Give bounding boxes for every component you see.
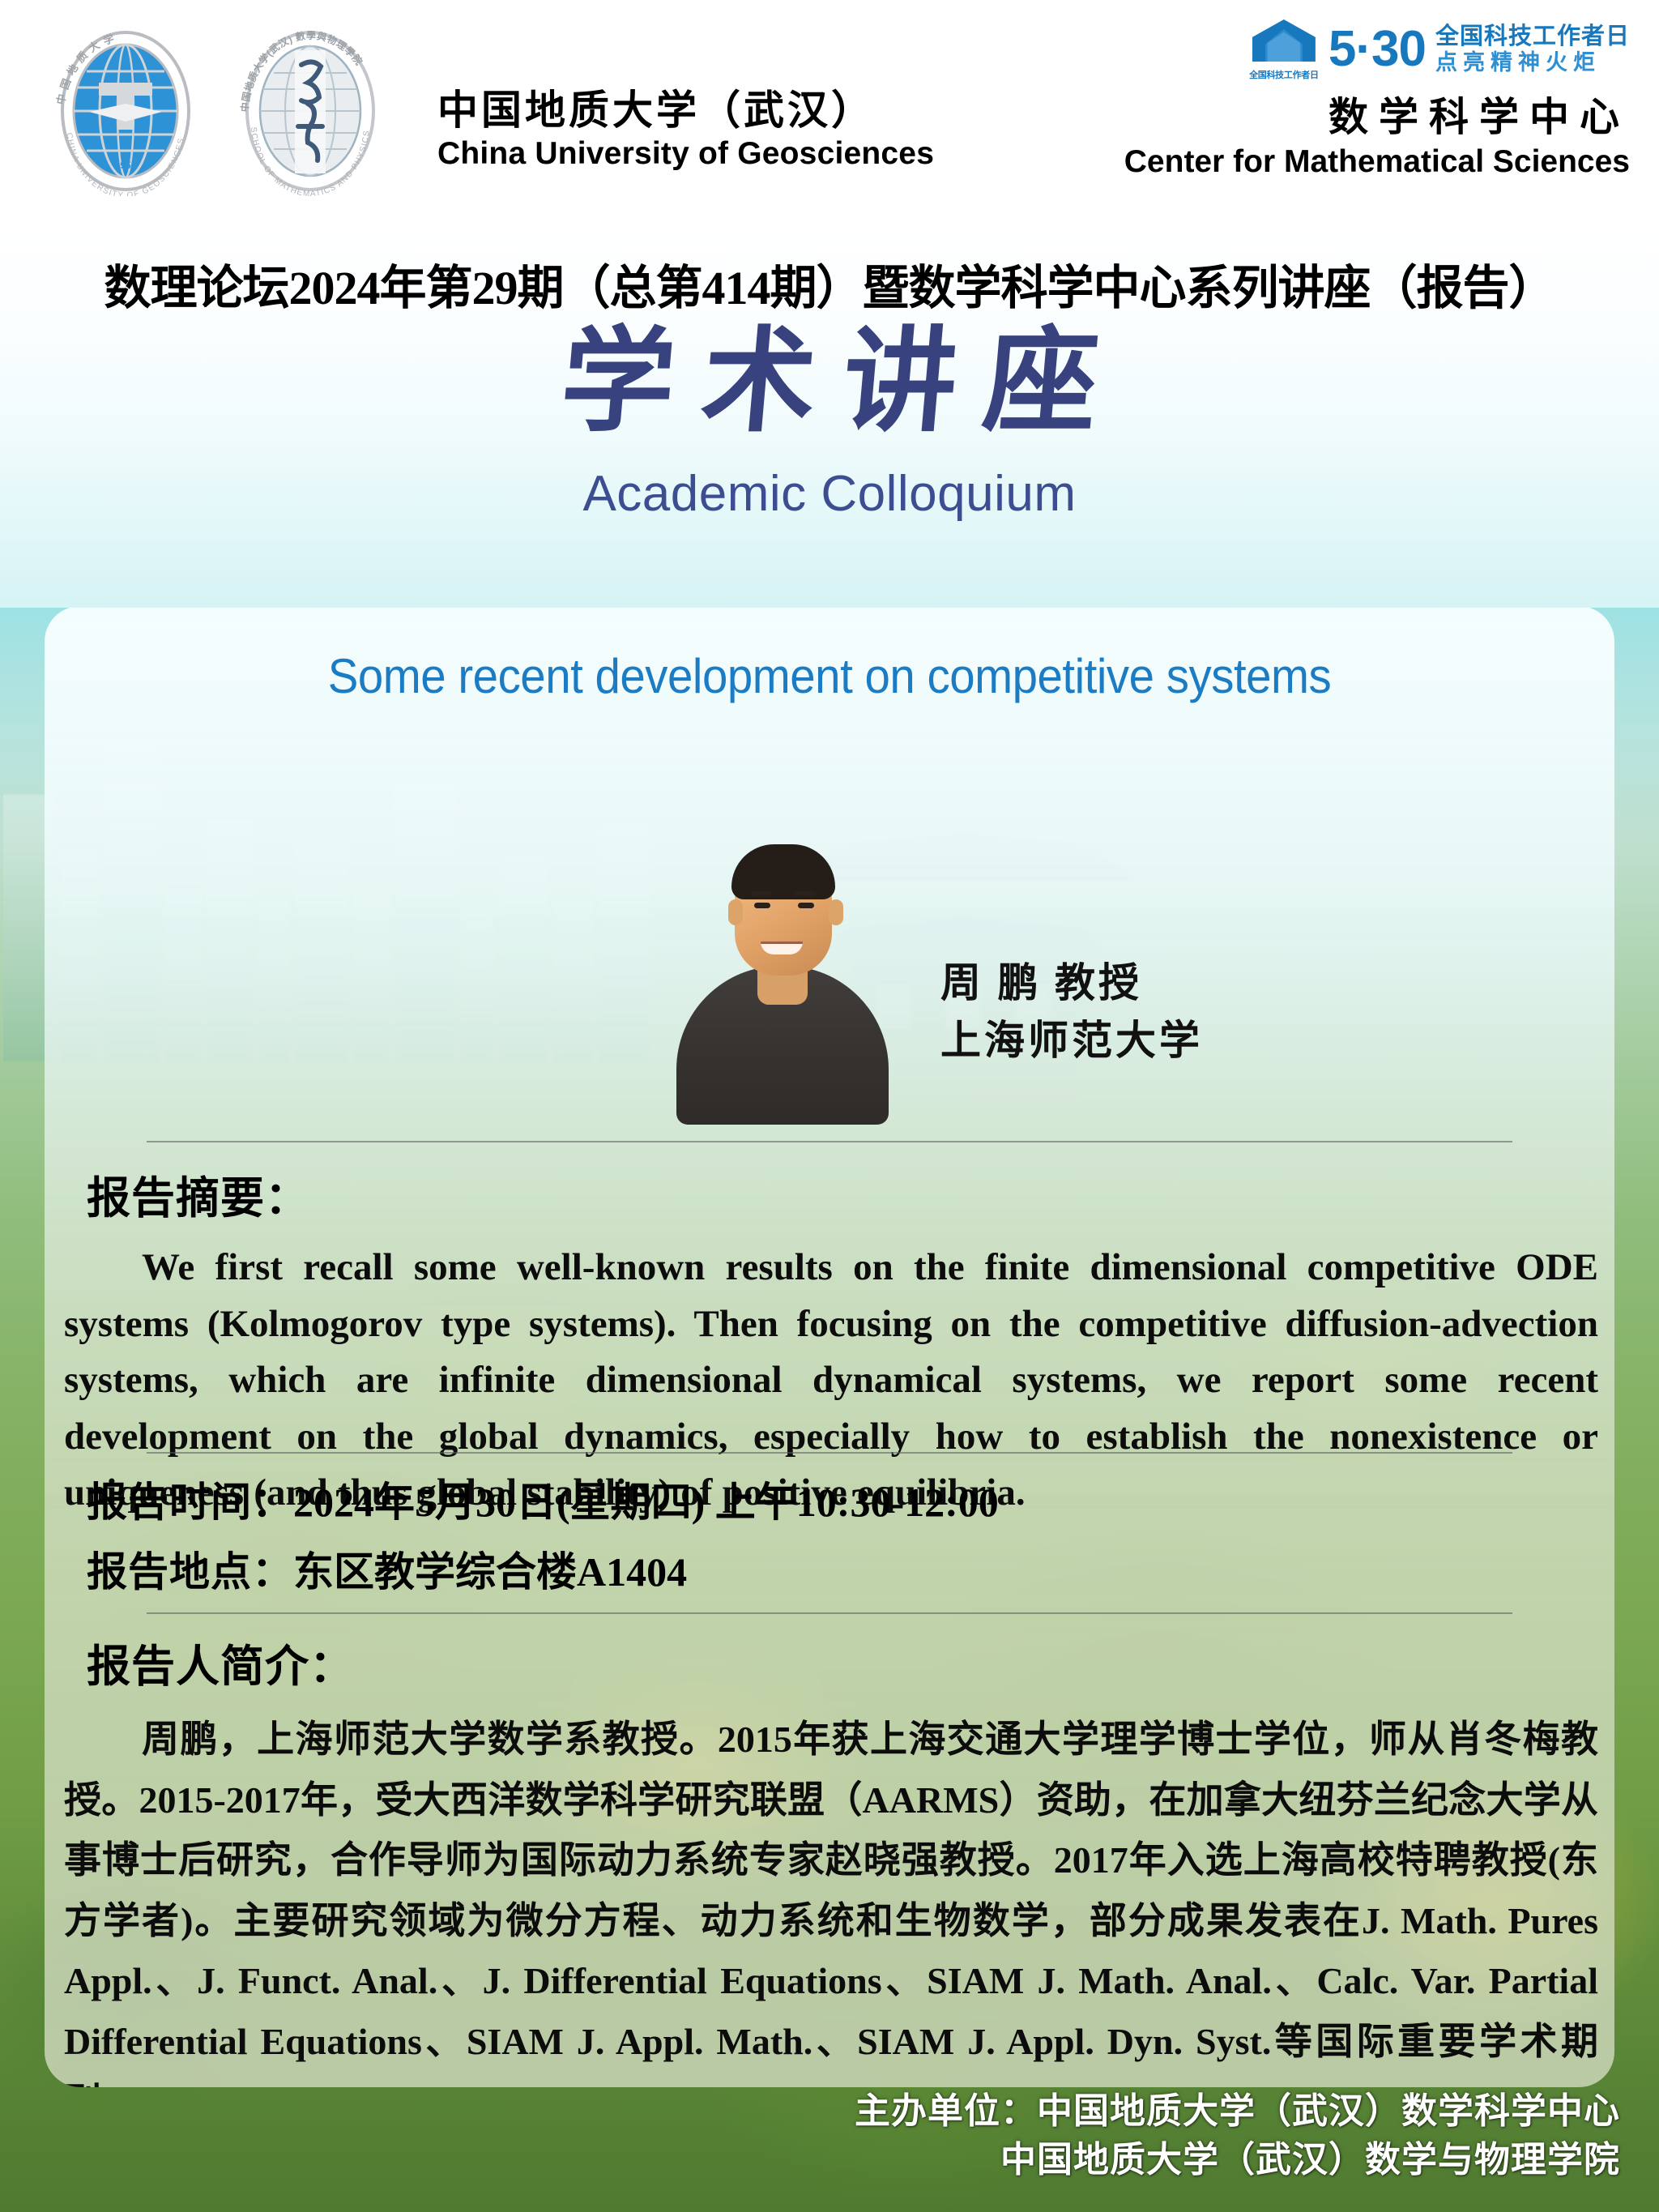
divider-above-abstract <box>147 1141 1512 1142</box>
science-day-date: 5·30 <box>1328 24 1426 75</box>
talk-title: Some recent development on competitive s… <box>92 648 1567 704</box>
science-day-line1: 全国科技工作者日 <box>1435 23 1630 50</box>
university-name-cn: 中国地质大学（武汉） <box>437 88 934 133</box>
bio-body: 周鹏，上海师范大学数学系教授。2015年获上海交通大学理学博士学位，师从肖冬梅教… <box>64 1710 1598 2087</box>
center-name-block: 数学科学中心 Center for Mathematical Sciences <box>1124 96 1630 180</box>
title-band: 数理论坛2024年第29期（总第414期）暨数学科学中心系列讲座（报告） 学术讲… <box>0 220 1659 608</box>
poster-footer: 主办单位：中国地质大学（武汉）数学科学中心 中国地质大学（武汉）数学与物理学院 <box>855 2087 1620 2184</box>
university-name-block: 中国地质大学（武汉） China University of Geoscienc… <box>437 88 934 172</box>
talk-time-value: 2024年5月30日(星期四) 上午10:30-12:00 <box>293 1480 999 1525</box>
science-day-badge-label: 全国科技工作者日 <box>1249 68 1319 81</box>
footer-organizer-line2: 中国地质大学（武汉）数学与物理学院 <box>855 2136 1620 2184</box>
calligraphy-title-en: Academic Colloquium <box>0 465 1659 523</box>
speaker-name: 周 鹏 教授 <box>940 954 1203 1012</box>
poster-header: 1952 中 国 地 质 大 学 CHINA UNIVERSITY OF GEO… <box>0 0 1659 220</box>
calligraphy-title-cn: 学术讲座 <box>0 319 1659 446</box>
speaker-affiliation: 上海师范大学 <box>940 1012 1203 1070</box>
talk-time-label: 报告时间： <box>87 1480 293 1525</box>
talk-location-value: 东区教学综合楼A1404 <box>293 1549 687 1595</box>
poster-root: 1952 中 国 地 质 大 学 CHINA UNIVERSITY OF GEO… <box>0 0 1659 2212</box>
bio-heading: 报告人简介： <box>87 1630 354 1694</box>
speaker-info: 周 鹏 教授 上海师范大学 <box>940 954 1203 1070</box>
science-day-line2: 点亮精神火炬 <box>1435 50 1630 76</box>
divider-above-time <box>147 1452 1512 1454</box>
talk-time: 报告时间：2024年5月30日(星期四) 上午10:30-12:00 <box>87 1470 999 1528</box>
center-name-cn: 数学科学中心 <box>1124 96 1630 141</box>
school-math-physics-emblem-icon: 中国地质大学(武汉) 數學與物理學院 SCHOOL OF MATHEMATICS… <box>227 29 394 196</box>
talk-location: 报告地点：东区教学综合楼A1404 <box>87 1539 687 1598</box>
content-card: Some recent development on competitive s… <box>45 606 1614 2087</box>
speaker-photo <box>657 825 908 1125</box>
university-name-en: China University of Geosciences <box>437 136 934 172</box>
footer-organizer-line1: 主办单位：中国地质大学（武汉）数学科学中心 <box>855 2087 1620 2136</box>
science-day-logo-icon: 全国科技工作者日 <box>1249 18 1319 81</box>
cug-emblem-icon: 1952 中 国 地 质 大 学 CHINA UNIVERSITY OF GEO… <box>42 29 209 196</box>
svg-text:1952: 1952 <box>115 160 137 171</box>
divider-above-bio <box>147 1612 1512 1614</box>
talk-location-label: 报告地点： <box>87 1549 293 1595</box>
science-workers-day-badge: 全国科技工作者日 5·30 全国科技工作者日 点亮精神火炬 <box>1249 18 1630 81</box>
abstract-heading: 报告摘要： <box>87 1162 309 1226</box>
header-logos: 1952 中 国 地 质 大 学 CHINA UNIVERSITY OF GEO… <box>42 29 394 196</box>
forum-series-line: 数理论坛2024年第29期（总第414期）暨数学科学中心系列讲座（报告） <box>0 250 1659 318</box>
center-name-en: Center for Mathematical Sciences <box>1124 144 1630 180</box>
